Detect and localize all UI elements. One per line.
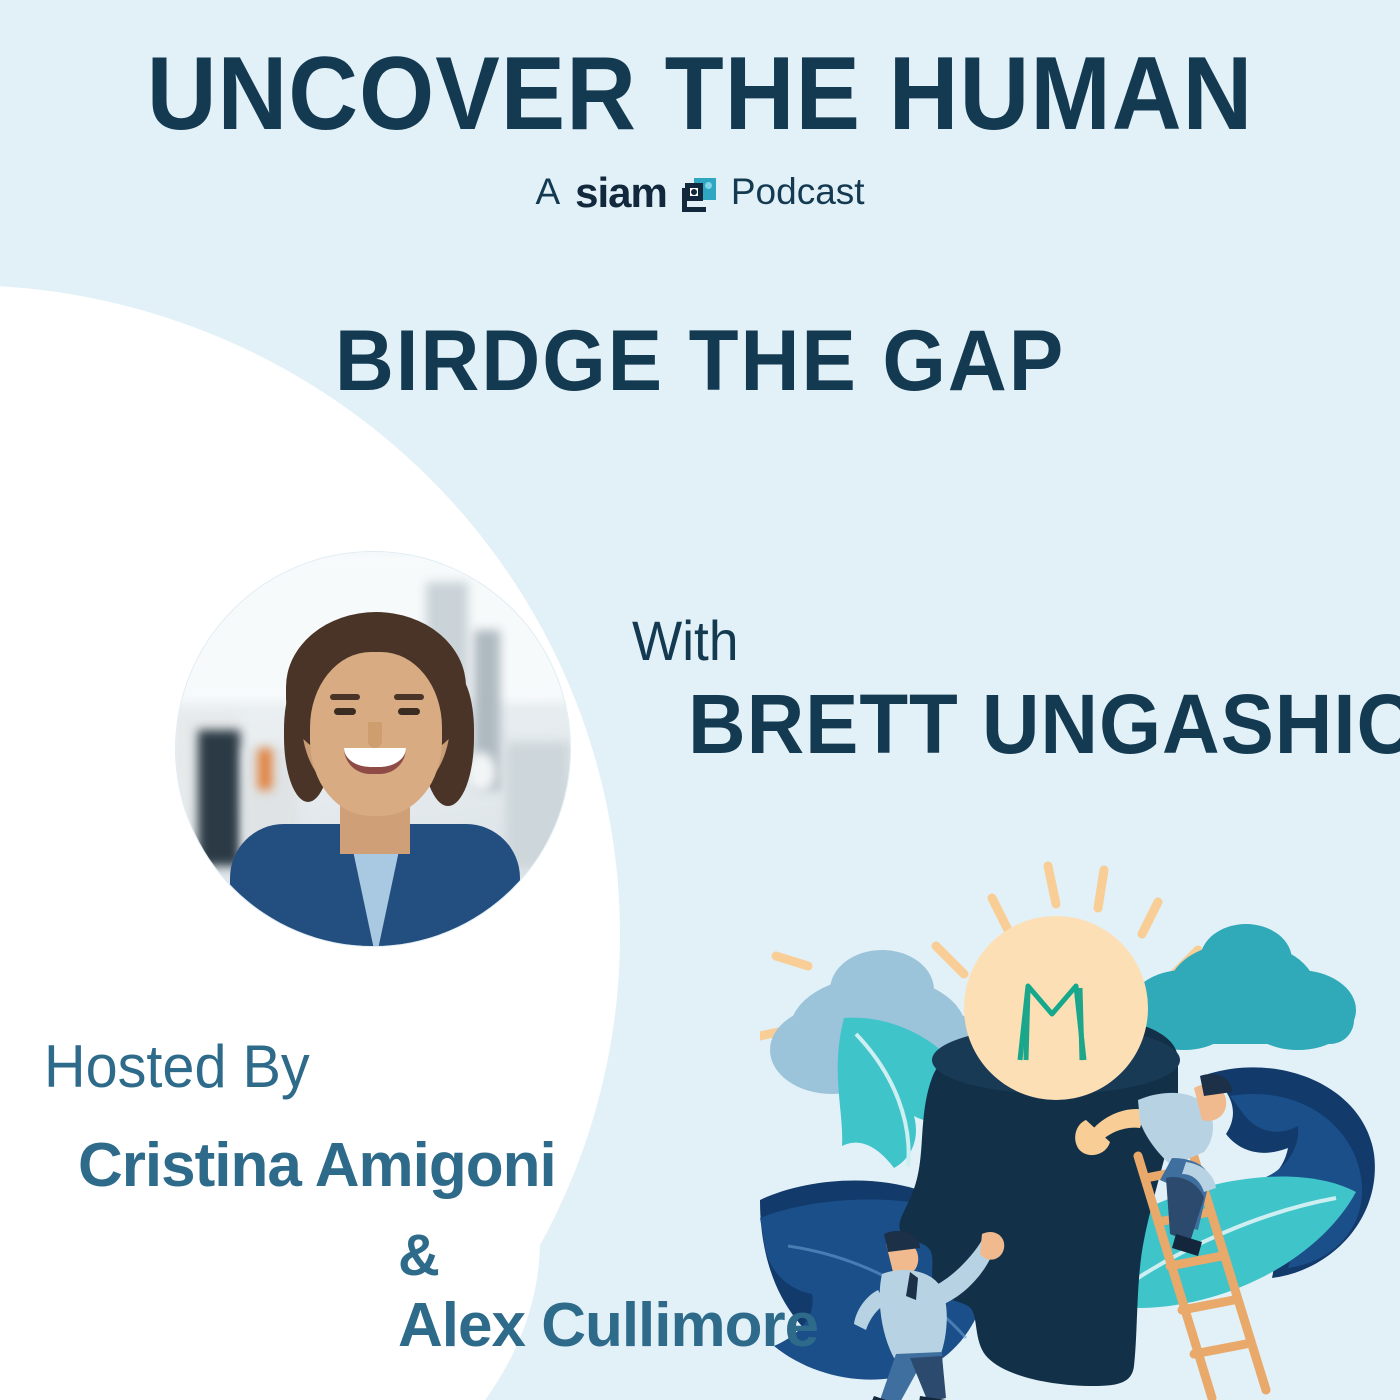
open-mind-illustration	[760, 838, 1400, 1400]
guest-photo-avatar	[176, 552, 570, 946]
byline-prefix: A	[535, 171, 560, 213]
guest-with-label: With	[632, 608, 738, 673]
lightbulb-icon	[964, 916, 1148, 1100]
host-name-secondary: Alex Cullimore	[398, 1290, 818, 1361]
byline-suffix: Podcast	[731, 171, 865, 213]
teal-cloud-icon	[1128, 924, 1356, 1050]
header: UNCOVER THE HUMAN A siam Podcast	[0, 0, 1400, 216]
host-conjunction: &	[398, 1222, 440, 1289]
siam-logo-mark-icon	[682, 178, 716, 212]
hosted-by-label: Hosted By	[44, 1032, 310, 1101]
guest-photo-image	[176, 552, 570, 946]
podcast-byline: A siam Podcast	[0, 168, 1400, 216]
guest-name: BRETT UNGASHICK	[688, 676, 1400, 773]
brand-wordmark: siam	[575, 169, 667, 217]
show-title: UNCOVER THE HUMAN	[49, 42, 1351, 146]
podcast-cover-art: UNCOVER THE HUMAN A siam Podcast BIRDGE …	[0, 0, 1400, 1400]
episode-title: BIRDGE THE GAP	[35, 312, 1365, 411]
host-name-primary: Cristina Amigoni	[78, 1130, 556, 1201]
